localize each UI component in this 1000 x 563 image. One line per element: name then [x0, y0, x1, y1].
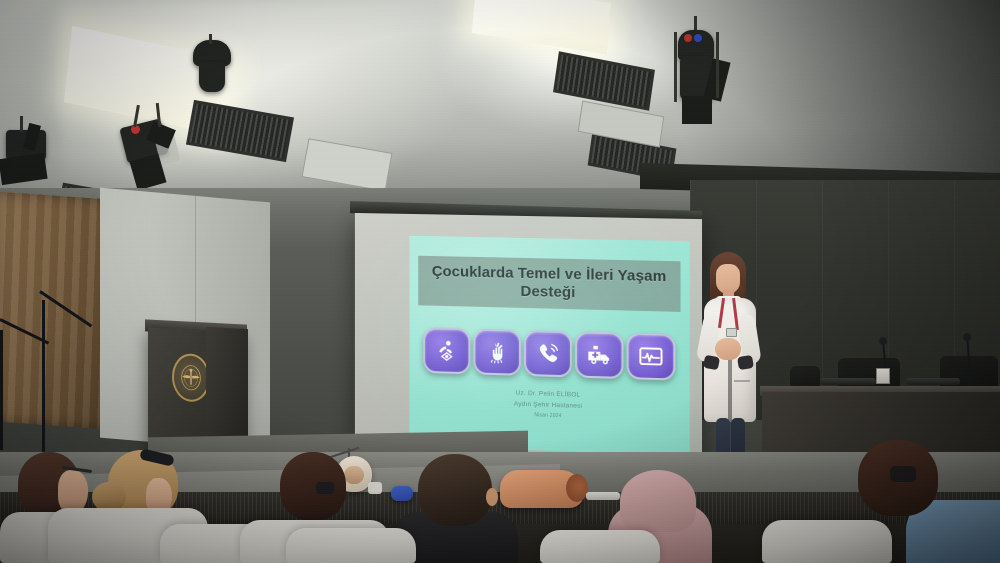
- hair-clip-icon: [316, 482, 334, 494]
- presenter-cuff-right: [737, 355, 754, 370]
- ambulance-icon: [575, 331, 623, 379]
- presenter-id-badge: [726, 328, 737, 337]
- ecg-monitor-icon: [627, 333, 676, 381]
- audience-member-4-ear: [486, 488, 498, 506]
- auditorium-seat: [540, 530, 660, 563]
- microphone-base: [820, 378, 876, 385]
- auditorium-seat: [286, 528, 416, 563]
- audience-member-5: [620, 470, 696, 532]
- conference-hall-photo: Çocuklarda Temel ve İleri Yaşam Desteği: [0, 0, 1000, 563]
- hair-clip-icon: [890, 466, 916, 482]
- microphone-stand: [0, 330, 3, 450]
- presentation-slide: Çocuklarda Temel ve İleri Yaşam Desteği: [409, 236, 689, 456]
- manikin-face: [344, 466, 364, 484]
- stage-spotlight-icon: [660, 16, 748, 134]
- bag-valve-mask-icon: [391, 486, 413, 501]
- presenter-hands: [715, 338, 741, 360]
- audience-member-3: [280, 452, 346, 520]
- lectern-emblem-icon: [172, 353, 210, 403]
- audience-member-4: [418, 454, 492, 526]
- name-card: [876, 368, 890, 384]
- slide-icon-row: [423, 327, 675, 380]
- emergency-call-icon: [524, 330, 572, 377]
- training-prop: [368, 482, 382, 494]
- cpr-manikin-neck: [566, 474, 588, 502]
- slide-title-band: Çocuklarda Temel ve İleri Yaşam Desteği: [418, 256, 680, 312]
- slide-title: Çocuklarda Temel ve İleri Yaşam Desteği: [418, 262, 680, 305]
- cpr-hands-icon: [473, 329, 521, 376]
- microphone-stand: [42, 300, 45, 460]
- auditorium-seat: [762, 520, 892, 563]
- stage-spotlight-icon: [183, 40, 253, 104]
- microphone-base: [906, 378, 960, 385]
- training-prop: [586, 492, 620, 500]
- presenter-coat-pocket: [734, 380, 750, 382]
- infant-care-icon: [423, 327, 470, 374]
